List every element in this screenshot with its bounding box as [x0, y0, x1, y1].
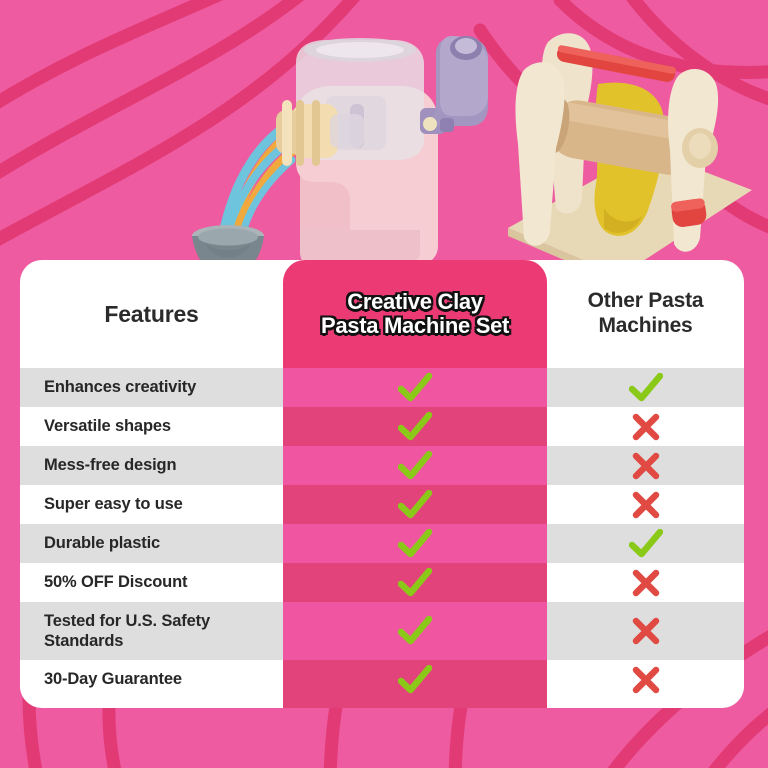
table-body: Enhances creativityVersatile shapesMess-…: [20, 368, 744, 699]
table-row: 30-Day Guarantee: [20, 660, 744, 699]
product-mark-cell: [283, 368, 547, 407]
check-icon: [398, 451, 432, 481]
other-mark-cell: [547, 602, 744, 660]
other-mark-cell: [547, 563, 744, 602]
cross-icon: [631, 412, 661, 442]
feature-label: Enhances creativity: [20, 368, 283, 407]
check-icon: [398, 412, 432, 442]
table-row: 50% OFF Discount: [20, 563, 744, 602]
other-mark-cell: [547, 446, 744, 485]
product-mark-cell: [283, 446, 547, 485]
header-cell-other: Other Pasta Machines: [547, 260, 744, 368]
product-mark-cell: [283, 660, 547, 699]
product-header-label: Creative Clay Pasta Machine Set: [321, 290, 509, 338]
check-icon: [398, 529, 432, 559]
feature-label: 30-Day Guarantee: [20, 660, 283, 699]
table-footer-spacer: [20, 699, 744, 708]
feature-label: Durable plastic: [20, 524, 283, 563]
cross-icon: [631, 568, 661, 598]
check-icon: [398, 665, 432, 695]
other-mark-cell: [547, 660, 744, 699]
table-row: Tested for U.S. Safety Standards: [20, 602, 744, 660]
check-icon: [629, 529, 663, 559]
product-header-line1: Creative Clay: [347, 289, 483, 314]
other-header-line2: Machines: [598, 314, 692, 337]
product-header-line2: Pasta Machine Set: [321, 313, 509, 338]
feature-label: Mess-free design: [20, 446, 283, 485]
product-mark-cell: [283, 602, 547, 660]
cross-icon: [631, 490, 661, 520]
feature-label: 50% OFF Discount: [20, 563, 283, 602]
product-mark-cell: [283, 524, 547, 563]
check-icon: [398, 568, 432, 598]
hero-product-images: [0, 0, 768, 300]
check-icon: [629, 373, 663, 403]
wooden-pasta-roller-illustration: [508, 33, 752, 284]
product-mark-cell: [283, 407, 547, 446]
check-icon: [398, 490, 432, 520]
other-mark-cell: [547, 407, 744, 446]
cross-icon: [631, 665, 661, 695]
table-header-row: Features Creative Clay Pasta Machine Set…: [20, 260, 744, 368]
check-icon: [398, 373, 432, 403]
table-row: Mess-free design: [20, 446, 744, 485]
feature-label: Tested for U.S. Safety Standards: [20, 602, 283, 660]
feature-label: Super easy to use: [20, 485, 283, 524]
other-header-line1: Other Pasta: [588, 289, 704, 312]
header-cell-features: Features: [20, 260, 283, 368]
product-mark-cell: [283, 563, 547, 602]
product-mark-cell: [283, 485, 547, 524]
table-row: Durable plastic: [20, 524, 744, 563]
comparison-table-card: Features Creative Clay Pasta Machine Set…: [20, 260, 744, 708]
other-mark-cell: [547, 485, 744, 524]
other-mark-cell: [547, 524, 744, 563]
header-cell-product: Creative Clay Pasta Machine Set: [283, 260, 547, 368]
comparison-table: Features Creative Clay Pasta Machine Set…: [20, 260, 744, 708]
table-row: Versatile shapes: [20, 407, 744, 446]
cross-icon: [631, 451, 661, 481]
features-header-label: Features: [104, 301, 198, 328]
table-row: Enhances creativity: [20, 368, 744, 407]
pink-clay-pasta-machine-illustration: [192, 36, 488, 276]
other-header-label: Other Pasta Machines: [588, 289, 704, 339]
feature-label: Versatile shapes: [20, 407, 283, 446]
cross-icon: [631, 616, 661, 646]
check-icon: [398, 616, 432, 646]
table-row: Super easy to use: [20, 485, 744, 524]
other-mark-cell: [547, 368, 744, 407]
